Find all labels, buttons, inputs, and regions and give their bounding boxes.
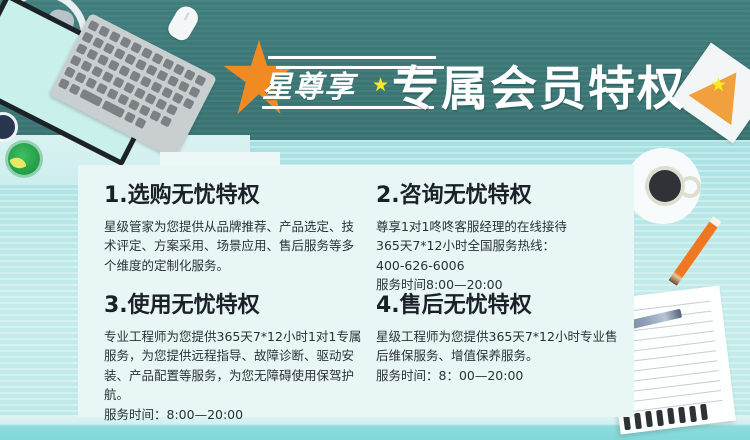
keyboard-key [141, 47, 153, 59]
privilege-card-3-title: 3.使用无忧特权 [104, 287, 362, 319]
keyboard-key [128, 99, 140, 111]
privilege-card-2-body: 尊享1对1咚咚客服经理的在线接待 365天7*12小时全国服务热线： 400-6… [376, 217, 628, 295]
privilege-card-1-title: 1.选购无忧特权 [104, 177, 362, 209]
keyboard-key [130, 42, 142, 54]
keyboard-key [97, 54, 109, 66]
keyboard-key [134, 117, 146, 129]
keyboard-key [124, 111, 136, 123]
keyboard-key [58, 78, 70, 90]
keyboard-key [87, 20, 99, 32]
keyboard-key [112, 76, 124, 88]
keyboard-key [91, 66, 103, 78]
keyboard-key [96, 83, 108, 95]
keyboard-key [81, 32, 93, 44]
keyboard-key [156, 70, 168, 82]
keyboard-key [182, 98, 194, 110]
mouse-icon [165, 3, 202, 44]
keyboard-key [172, 92, 184, 104]
keyboard-key [129, 70, 141, 82]
keyboard-key [152, 53, 164, 65]
keyboard-key [123, 82, 135, 94]
keyboard-key [135, 59, 147, 71]
privilege-card-2: 2.咨询无忧特权 尊享1对1咚咚客服经理的在线接待 365天7*12小时全国服务… [376, 177, 628, 295]
member-privileges-banner: 星尊享 ★ 专属会员特权 ★ 1.选购无忧特权 星级管家为您提供从品牌推荐、产品… [0, 0, 750, 440]
keyboard-key [107, 88, 119, 100]
keyboard-key [119, 36, 131, 48]
keyboard-key [86, 49, 98, 61]
keyboard-key [109, 31, 121, 43]
notepad-rule-line [627, 400, 722, 413]
brand-logo-text: 星尊享 [262, 62, 355, 106]
keyboard-key [76, 43, 88, 55]
keyboard-key [102, 71, 114, 83]
privilege-card-4-title: 4.售后无忧特权 [376, 287, 628, 319]
keyboard-key [178, 81, 190, 93]
keyboard-key [145, 93, 157, 105]
keyboard-key [98, 25, 110, 37]
keyboard-key [139, 104, 151, 116]
keyboard-key [64, 66, 76, 78]
keyboard-key [184, 69, 196, 81]
keyboard-key [134, 87, 146, 99]
keyboard-key [161, 87, 173, 99]
keyboard-key [162, 58, 174, 70]
coffee-liquid-icon [649, 170, 681, 202]
keyboard-key [188, 86, 200, 98]
keyboard-key [146, 64, 158, 76]
privilege-card-4-body: 星级工程师为您提供365天7*12小时专业售后维保服务、增值保养服务。 服务时间… [376, 327, 628, 385]
keyboard-key [74, 72, 86, 84]
keyboard-key [124, 53, 136, 65]
keyboard-key [103, 42, 115, 54]
privilege-card-1: 1.选购无忧特权 星级管家为您提供从品牌推荐、产品选定、技术评定、方案采用、场景… [104, 177, 362, 275]
keyboard-key [160, 115, 172, 127]
keyboard-key [194, 74, 206, 86]
privileges-panel: 1.选购无忧特权 星级管家为您提供从品牌推荐、产品选定、技术评定、方案采用、场景… [78, 165, 634, 417]
keyboard-key [140, 76, 152, 88]
keyboard-key [149, 110, 161, 122]
keyboard-key [114, 48, 126, 60]
keyboard-key [166, 104, 178, 116]
keyboard-key [108, 59, 120, 71]
keyboard-key [155, 98, 167, 110]
desk-illustration [0, 0, 235, 185]
keyboard-key [167, 75, 179, 87]
keyboard-key [69, 83, 81, 95]
privilege-card-4: 4.售后无忧特权 星级工程师为您提供365天7*12小时专业售后维保服务、增值保… [376, 287, 628, 385]
keyboard-key [92, 37, 104, 49]
privilege-card-2-title: 2.咨询无忧特权 [376, 177, 628, 209]
keyboard-key [117, 94, 129, 106]
privilege-card-1-body: 星级管家为您提供从品牌推荐、产品选定、技术评定、方案采用、场景应用、售后服务等多… [104, 217, 362, 275]
keyboard-key [118, 65, 130, 77]
privilege-card-3: 3.使用无忧特权 专业工程师为您提供365天7*12小时1对1专属服务，为您提供… [104, 287, 362, 424]
decor-star-right-icon: ★ [710, 76, 727, 95]
keyboard-key [85, 77, 97, 89]
privilege-card-3-body: 专业工程师为您提供365天7*12小时1对1专属服务，为您提供远程指导、故障诊断… [104, 327, 362, 424]
page-title: 专属会员特权 [392, 50, 686, 119]
keyboard-key [173, 64, 185, 76]
keyboard-key [70, 55, 82, 67]
keyboard-key [80, 60, 92, 72]
dark-disc-icon [0, 112, 18, 142]
keyboard-key [150, 81, 162, 93]
decor-star-left-icon: ★ [372, 76, 389, 95]
